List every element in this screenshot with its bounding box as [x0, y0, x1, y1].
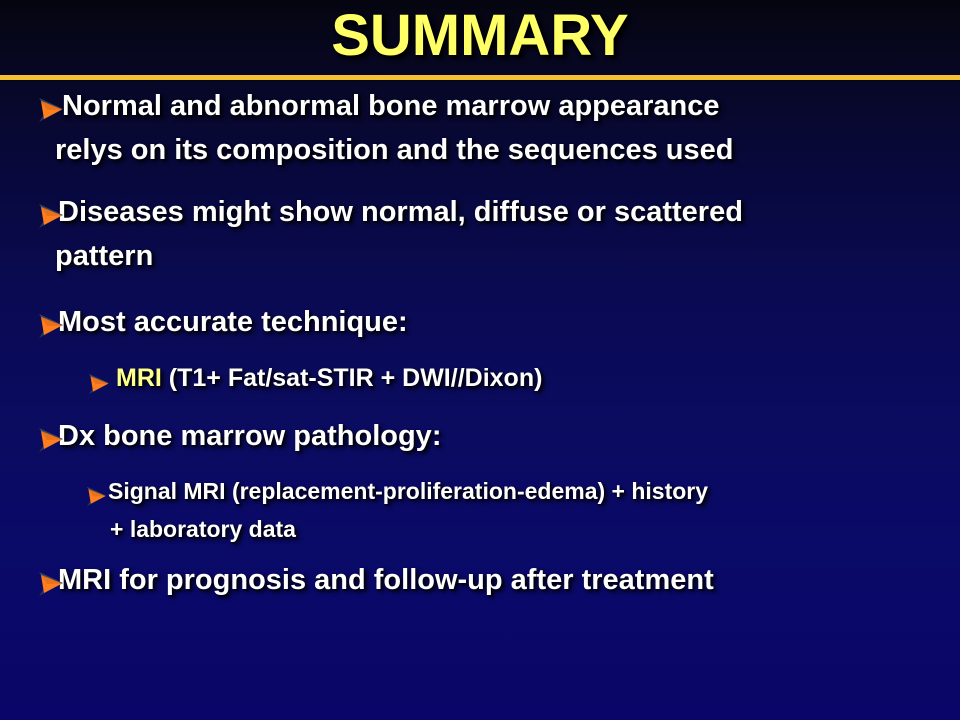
arrow-bullet-icon	[38, 198, 64, 224]
bullet-item: Dx bone marrow pathology:	[0, 414, 960, 458]
sub-bullet-item: Signal MRI (replacement-proliferation-ed…	[0, 472, 960, 548]
arrow-bullet-icon	[38, 422, 64, 448]
title-divider-rule	[0, 75, 960, 80]
sub-bullet-item: MRI (T1+ Fat/sat-STIR + DWI//Dixon)	[0, 358, 960, 398]
bullet-item: Most accurate technique:	[0, 300, 960, 344]
sub-bullet-rest: (T1+ Fat/sat-STIR + DWI//Dixon)	[162, 364, 543, 392]
bullet-line-wrap: relys on its composition and the sequenc…	[55, 128, 942, 172]
bullet-item: Normal and abnormal bone marrow appearan…	[0, 84, 960, 172]
presentation-slide: SUMMARY Normal and abnormal bone marrow …	[0, 0, 960, 720]
slide-body: Normal and abnormal bone marrow appearan…	[0, 82, 960, 720]
arrow-bullet-icon	[38, 92, 64, 118]
arrow-bullet-icon	[88, 367, 110, 389]
bullet-line: Dx bone marrow pathology:	[58, 414, 942, 458]
arrow-bullet-icon	[38, 308, 64, 334]
page-title: SUMMARY	[0, 0, 960, 72]
slide-title-area: SUMMARY	[0, 0, 960, 78]
bullet-line: MRI for prognosis and follow-up after tr…	[58, 558, 942, 602]
sub-bullet-line-wrap: + laboratory data	[110, 510, 946, 548]
bullet-item: MRI for prognosis and follow-up after tr…	[0, 558, 960, 602]
sub-bullet-line: Signal MRI (replacement-proliferation-ed…	[108, 472, 946, 510]
sub-bullet-emphasis: MRI	[116, 364, 162, 392]
bullet-line: Diseases might show normal, diffuse or s…	[58, 190, 942, 234]
sub-bullet-line: MRI (T1+ Fat/sat-STIR + DWI//Dixon)	[116, 358, 942, 398]
arrow-bullet-icon	[38, 566, 64, 592]
arrow-bullet-icon	[86, 480, 107, 501]
bullet-line: Normal and abnormal bone marrow appearan…	[62, 84, 942, 128]
bullet-line-wrap: pattern	[55, 234, 942, 278]
bullet-item: Diseases might show normal, diffuse or s…	[0, 190, 960, 278]
bullet-line: Most accurate technique:	[58, 300, 942, 344]
